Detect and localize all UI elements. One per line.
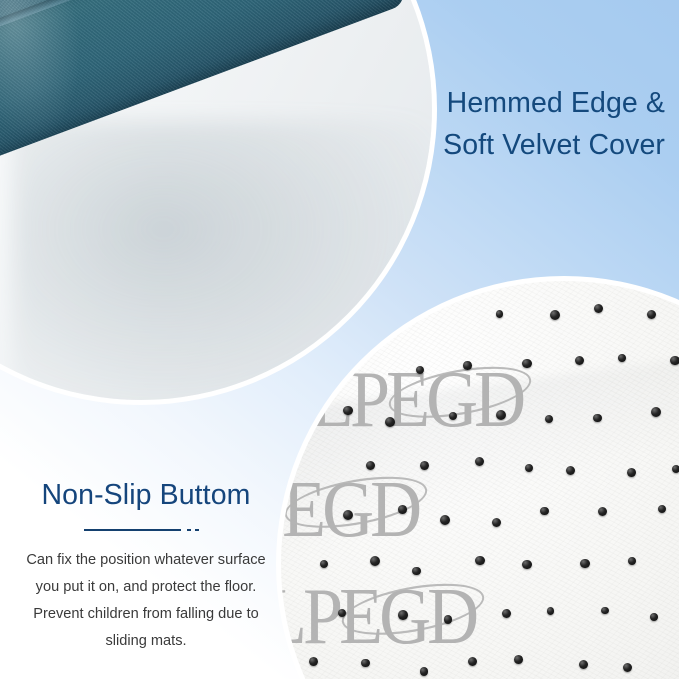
anti-slip-dot [502,609,511,618]
anti-slip-dot [623,663,632,672]
anti-slip-dot [580,559,590,569]
description-line-4: sliding mats. [0,628,292,655]
description-line-2: you put it on, and protect the floor. [0,574,292,601]
anti-slip-dot-pattern [281,281,679,679]
anti-slip-dot [320,560,328,568]
anti-slip-dot [416,366,424,374]
anti-slip-dot [475,457,484,466]
anti-slip-dot [672,465,679,473]
feature-heading-hemmed-edge: Hemmed Edge & Soft Velvet Cover [443,82,665,166]
anti-slip-dot [522,560,531,569]
anti-slip-dot [361,659,369,667]
anti-slip-dot [468,657,477,666]
anti-slip-dot [366,461,375,470]
anti-slip-dot [670,356,679,366]
anti-slip-dot [444,615,452,623]
anti-slip-dot [598,507,607,516]
anti-slip-dot [522,359,532,369]
anti-slip-dot [496,410,506,420]
feature-heading-line-1: Hemmed Edge & [443,82,665,124]
anti-slip-dot [398,610,408,620]
anti-slip-dot [579,660,588,669]
anti-slip-dot [628,557,636,565]
anti-slip-dot [650,613,658,621]
title-divider [84,525,209,535]
anti-slip-dot [566,466,575,475]
anti-slip-dot [338,609,346,617]
anti-slip-dot [309,657,318,666]
divider-dash-2 [195,529,199,531]
anti-slip-dot [651,407,661,417]
feature-description-non-slip: Can fix the position whatever surface yo… [0,547,292,655]
anti-slip-dot [601,607,609,615]
anti-slip-dot [545,415,553,423]
anti-slip-dot [540,507,548,515]
anti-slip-dot [440,515,450,525]
anti-slip-dot [343,510,353,520]
anti-slip-dot [647,310,656,319]
anti-slip-dot [525,464,533,472]
anti-slip-dot [420,667,429,676]
divider-rule [84,529,181,531]
anti-slip-dot [575,356,585,366]
feature-heading-line-2: Soft Velvet Cover [443,124,665,166]
anti-slip-dot [627,468,636,477]
feature-block-non-slip: Non-Slip Buttom Can fix the position wha… [0,478,292,655]
anti-slip-dot [420,461,429,470]
anti-slip-dot [514,655,523,664]
anti-slip-dot [343,406,352,415]
anti-slip-dot [594,304,603,313]
anti-slip-dot [412,567,420,575]
anti-slip-dot [658,505,666,513]
anti-slip-dot [463,361,472,370]
anti-slip-dot [550,310,560,320]
anti-slip-dot [475,556,484,565]
marketing-image-canvas: ILPEGD ILPEGD ILPEGD Hemmed Edge & Soft … [0,0,679,679]
product-photo-circle-non-slip: ILPEGD ILPEGD ILPEGD [281,281,679,679]
description-line-3: Prevent children from falling due to [0,601,292,628]
anti-slip-dot [547,607,555,615]
description-line-1: Can fix the position whatever surface [0,547,292,574]
anti-slip-dot [492,518,501,527]
anti-slip-dot [496,310,504,318]
anti-slip-dot [618,354,626,362]
divider-dash-1 [187,529,191,531]
anti-slip-dot [593,414,602,423]
anti-slip-dot [370,556,380,566]
anti-slip-dot [398,505,407,514]
anti-slip-dot [449,412,457,420]
feature-title-non-slip: Non-Slip Buttom [0,478,292,512]
anti-slip-dot [385,417,395,427]
